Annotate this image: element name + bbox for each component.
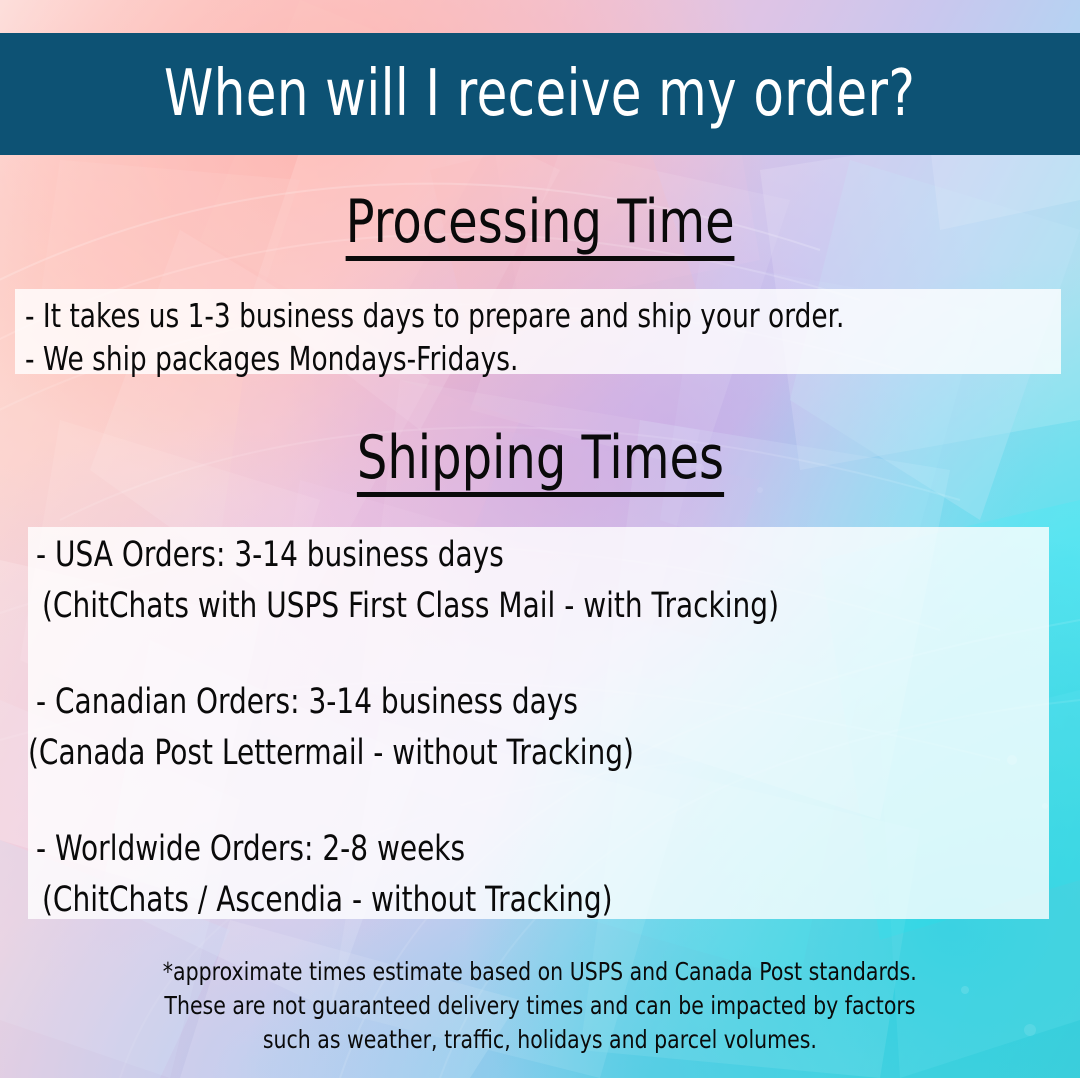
shipping-line-worldwide: - Worldwide Orders: 2-8 weeks xyxy=(36,832,572,867)
footer-line: *approximate times estimate based on USP… xyxy=(0,955,1080,989)
section-heading-shipping-text: Shipping Times xyxy=(356,428,723,497)
poster-canvas: When will I receive my order? Processing… xyxy=(0,0,1080,1078)
processing-line-text: - It takes us 1-3 business days to prepa… xyxy=(25,299,844,332)
shipping-text-block: - USA Orders: 3-14 business days (ChitCh… xyxy=(28,527,1049,919)
footer-line: such as weather, traffic, holidays and p… xyxy=(0,1023,1080,1057)
shipping-line-usa-detail: (ChitChats with USPS First Class Mail - … xyxy=(42,589,963,624)
shipping-line-canada-detail-text: (Canada Post Lettermail - without Tracki… xyxy=(28,736,634,771)
footer-disclaimer: *approximate times estimate based on USP… xyxy=(0,955,1080,1057)
footer-line: These are not guaranteed delivery times … xyxy=(0,989,1080,1023)
footer-line-text: such as weather, traffic, holidays and p… xyxy=(263,1023,817,1057)
header-banner: When will I receive my order? xyxy=(0,33,1080,155)
shipping-line-usa: - USA Orders: 3-14 business days xyxy=(36,538,621,573)
section-heading-shipping: Shipping Times xyxy=(0,428,1080,497)
shipping-line-worldwide-text: - Worldwide Orders: 2-8 weeks xyxy=(36,832,465,867)
shipping-line-canada-text: - Canadian Orders: 3-14 business days xyxy=(36,685,578,720)
shipping-line-usa-detail-text: (ChitChats with USPS First Class Mail - … xyxy=(42,589,779,624)
processing-line: - We ship packages Mondays-Fridays. xyxy=(25,342,642,375)
processing-text-block: - It takes us 1-3 business days to prepa… xyxy=(15,289,1061,374)
footer-line-text: *approximate times estimate based on USP… xyxy=(163,955,917,989)
section-heading-processing-text: Processing Time xyxy=(345,192,734,261)
shipping-line-canada: - Canadian Orders: 3-14 business days xyxy=(36,685,713,720)
footer-line-text: These are not guaranteed delivery times … xyxy=(164,989,915,1023)
processing-line: - It takes us 1-3 business days to prepa… xyxy=(25,299,1049,332)
shipping-line-usa-text: - USA Orders: 3-14 business days xyxy=(36,538,504,573)
processing-line-text: - We ship packages Mondays-Fridays. xyxy=(25,342,518,375)
section-heading-processing: Processing Time xyxy=(0,192,1080,261)
shipping-line-worldwide-detail-text: (ChitChats / Ascendia - without Tracking… xyxy=(42,883,613,918)
shipping-line-canada-detail: (Canada Post Lettermail - without Tracki… xyxy=(28,736,785,771)
page-title: When will I receive my order? xyxy=(164,62,915,126)
shipping-line-worldwide-detail: (ChitChats / Ascendia - without Tracking… xyxy=(42,883,755,918)
